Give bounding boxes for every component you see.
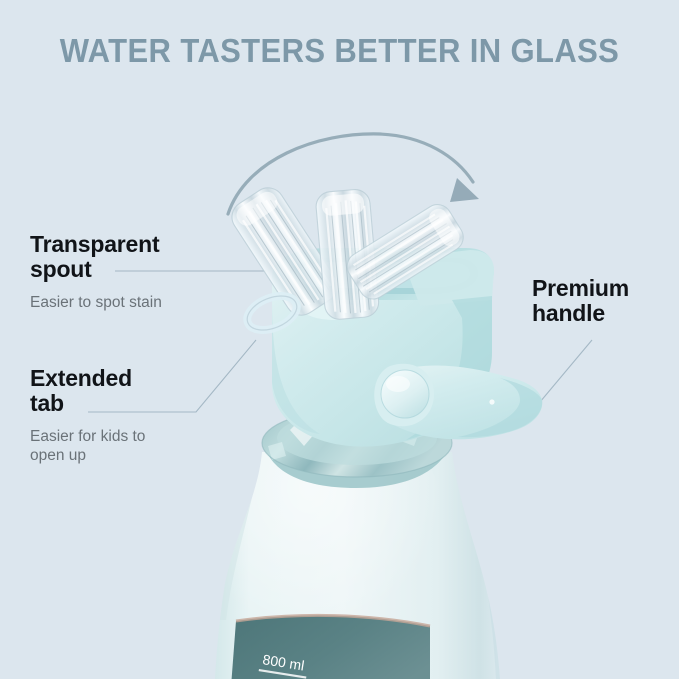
annotation-heading: Extended tab — [30, 366, 145, 416]
annotation-subtitle: Easier to spot stain — [30, 293, 162, 312]
annotation-transparent-spout: Transparent spout Easier to spot stain — [30, 232, 162, 312]
volume-label-panel: 800 ml — [230, 615, 430, 679]
leader-line-handle — [540, 340, 592, 402]
annotation-premium-handle: Premium handle — [532, 276, 629, 326]
infographic-canvas: 800 ml — [0, 0, 679, 679]
annotation-heading: Transparent spout — [30, 232, 162, 282]
annotation-subtitle: Easier for kids to open up — [30, 427, 145, 465]
annotation-heading: Premium handle — [532, 276, 629, 326]
annotation-extended-tab: Extended tab Easier for kids to open up — [30, 366, 145, 465]
product-illustration: 800 ml — [0, 0, 679, 679]
page-title: WATER TASTERS BETTER IN GLASS — [20, 32, 658, 70]
